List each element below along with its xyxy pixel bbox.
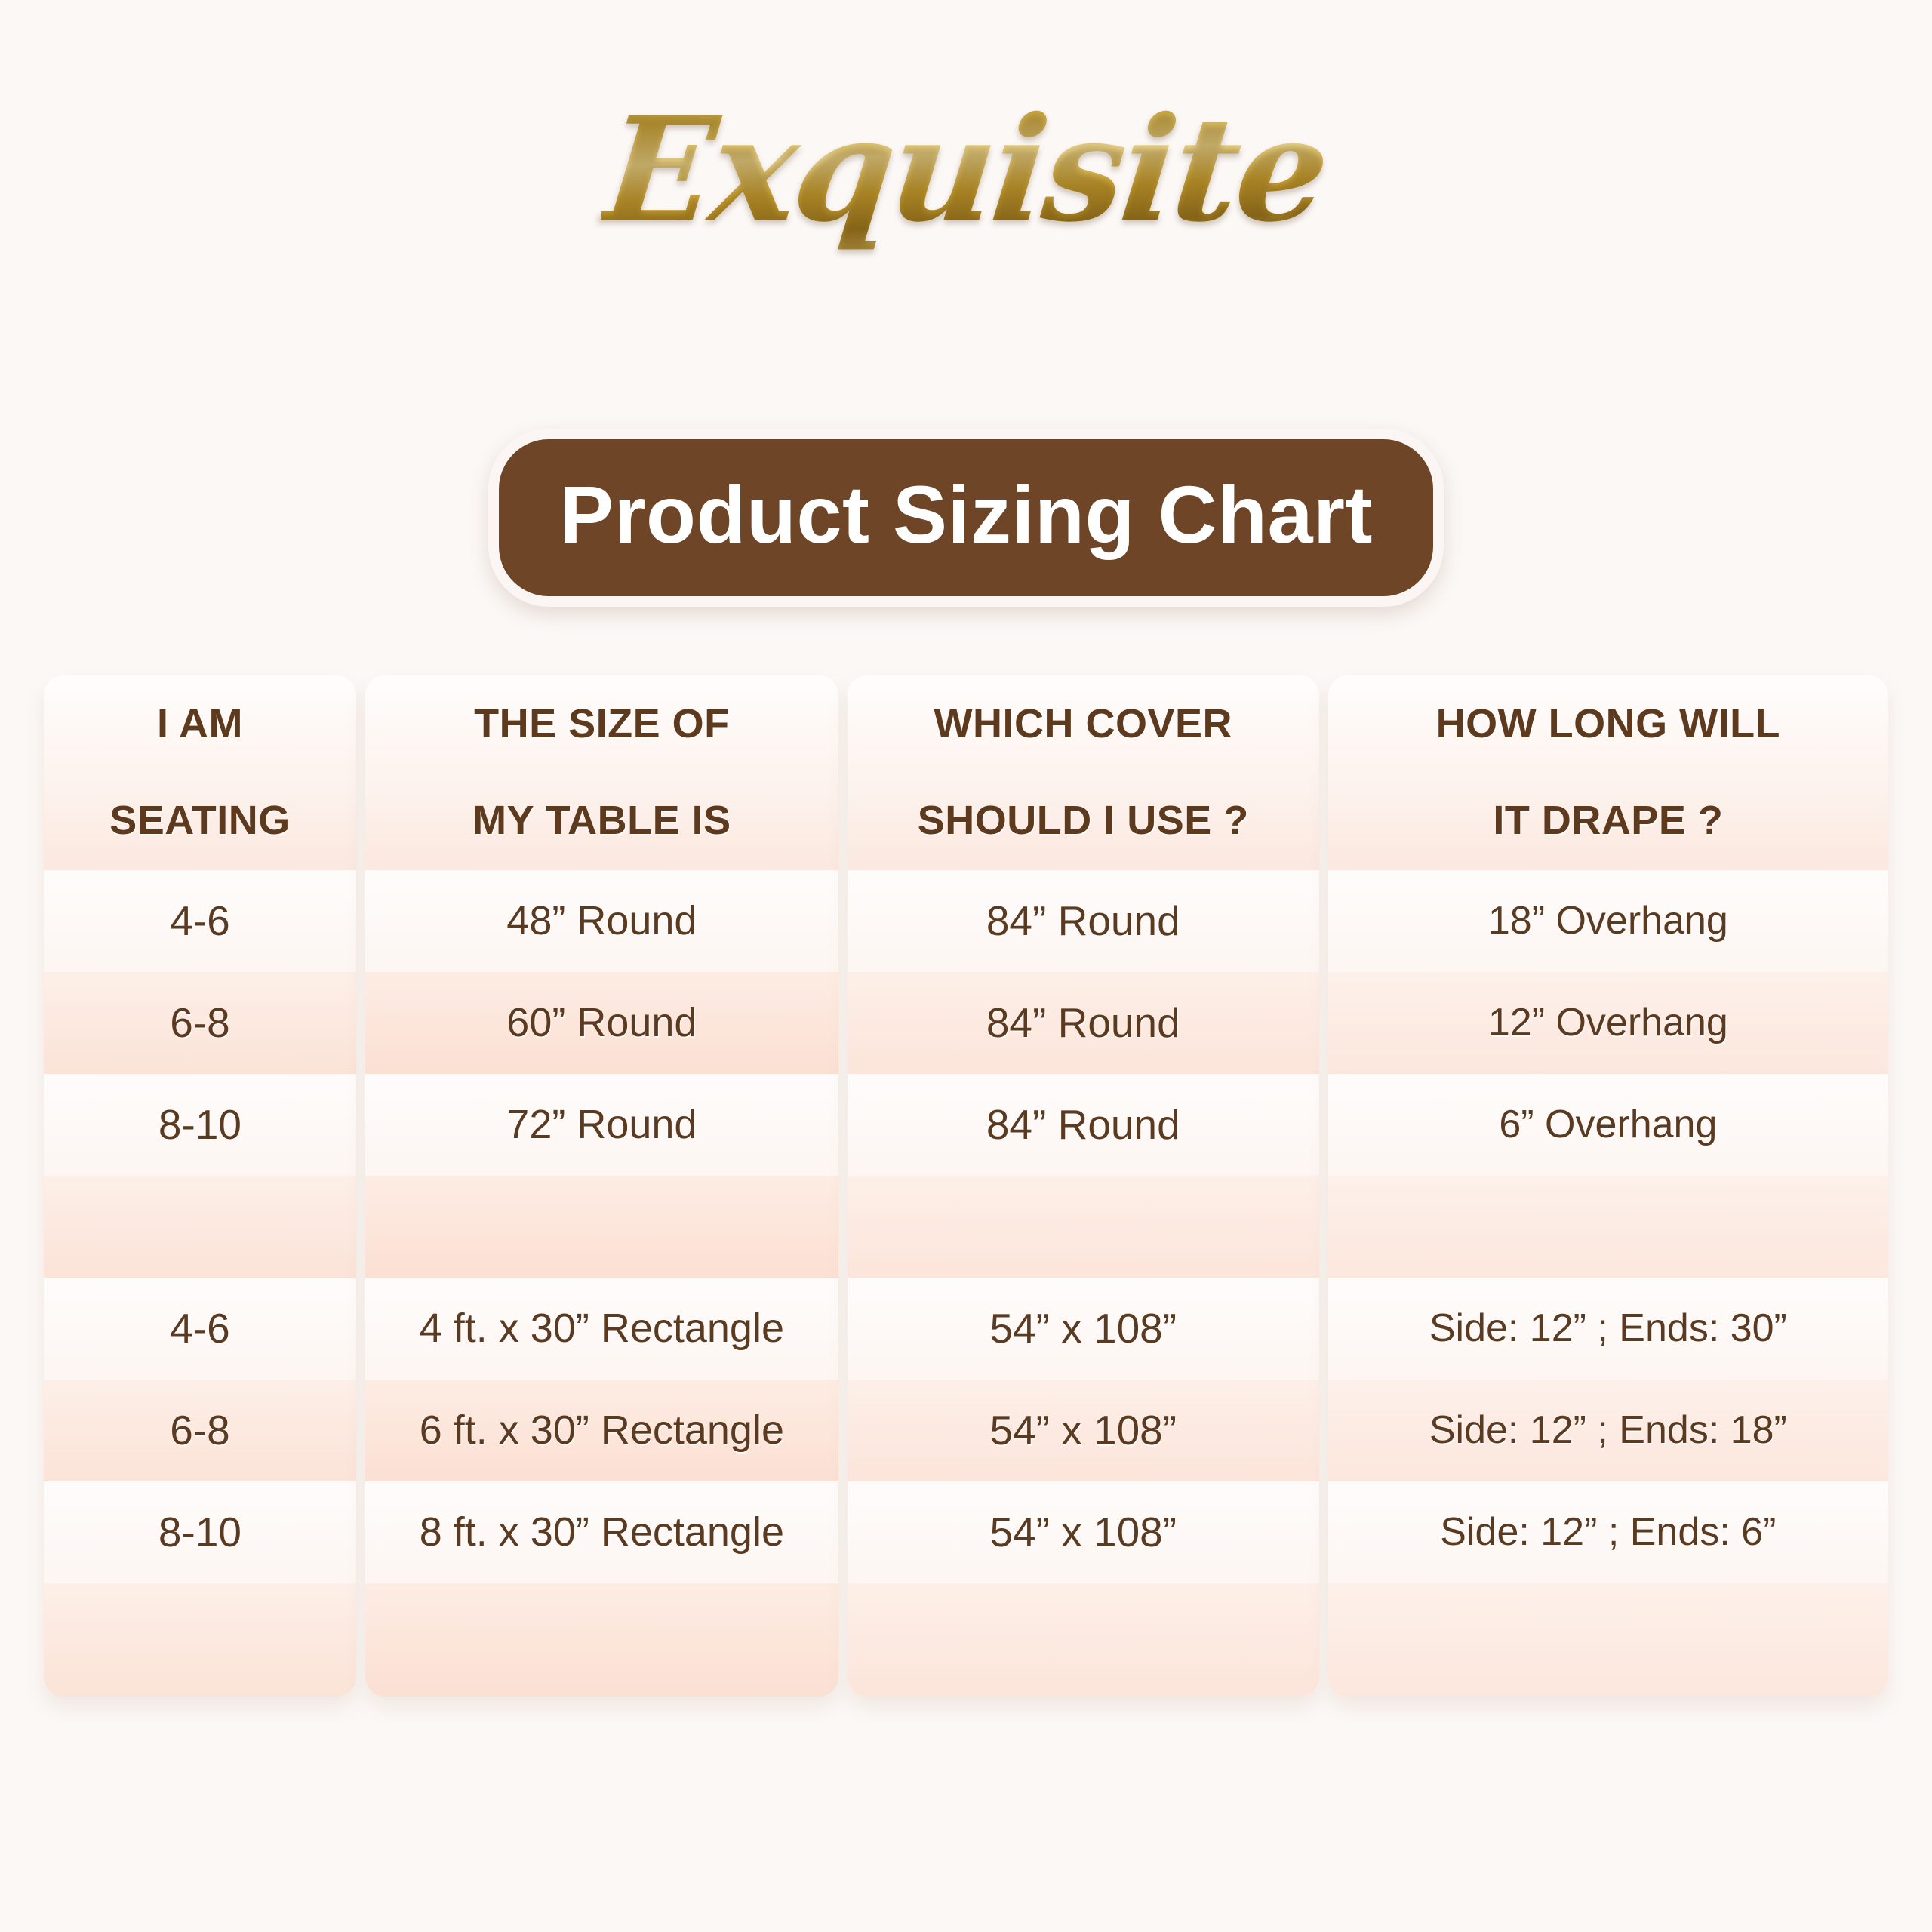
table-row: 72” Round [365,1074,838,1176]
table-row: 4-6 [44,870,356,972]
column-header-drape-length-line2: IT DRAPE ? [1436,797,1780,845]
sizing-chart-page: Exquisite Product Sizing Chart I AM SEAT… [0,0,1932,1932]
table-row: Side: 12” ; Ends: 18” [1328,1380,1888,1481]
table-row: 54” x 108” [848,1481,1319,1583]
table-row-spacer [44,1176,356,1278]
page-title: Product Sizing Chart [488,429,1444,607]
table-row: 4 ft. x 30” Rectangle [365,1278,838,1380]
column-header-cover-size: WHICH COVER SHOULD I USE ? [848,675,1319,870]
cell-value: 6 ft. x 30” Rectangle [420,1408,784,1453]
cell-value: 54” x 108” [989,1407,1177,1454]
cell-value: 8-10 [158,1102,241,1148]
column-header-cover-size-line1: WHICH COVER [918,700,1249,749]
cell-value: 12” Overhang [1488,1001,1728,1044]
cell-value: 8-10 [158,1509,241,1555]
cell-value: 18” Overhang [1488,900,1728,943]
table-row: 54” x 108” [848,1278,1319,1380]
table-row: 84” Round [848,1074,1319,1176]
cell-value: 84” Round [986,1000,1180,1046]
cell-value: Side: 12” ; Ends: 18” [1429,1409,1787,1452]
cell-value: 54” x 108” [989,1509,1177,1555]
cell-value: 4-6 [170,1306,230,1352]
column-header-seating: I AM SEATING [44,675,356,870]
cell-value: Side: 12” ; Ends: 30” [1429,1307,1787,1350]
table-row-spacer [365,1176,838,1278]
column-header-table-size-line1: THE SIZE OF [472,700,731,749]
brand-name: Exquisite [597,83,1334,257]
cell-value: 54” x 108” [989,1306,1177,1352]
cell-value: 60” Round [506,1001,697,1045]
column-header-seating-line2: SEATING [109,797,291,845]
table-row: 48” Round [365,870,838,972]
column-table-size: THE SIZE OF MY TABLE IS 48” Round 60” Ro… [365,675,838,1697]
table-row: 8-10 [44,1074,356,1176]
table-row-tail [44,1583,356,1697]
column-header-drape-length-line1: HOW LONG WILL [1436,700,1780,749]
column-cover-size: WHICH COVER SHOULD I USE ? 84” Round 84”… [848,675,1319,1697]
table-row: 12” Overhang [1328,972,1888,1074]
column-drape-length: HOW LONG WILL IT DRAPE ? 18” Overhang 12… [1328,675,1888,1697]
cell-value: Side: 12” ; Ends: 6” [1440,1511,1776,1554]
table-row: 8 ft. x 30” Rectangle [365,1481,838,1583]
cell-value: 8 ft. x 30” Rectangle [420,1510,784,1555]
cell-value: 72” Round [506,1103,697,1147]
table-row-tail [848,1583,1319,1697]
table-row: 84” Round [848,972,1319,1074]
table-row: 6 ft. x 30” Rectangle [365,1380,838,1481]
table-row-spacer [848,1176,1319,1278]
table-row-spacer [1328,1176,1888,1278]
table-row: 4-6 [44,1278,356,1380]
page-title-banner: Product Sizing Chart [0,429,1932,607]
table-row: 6” Overhang [1328,1074,1888,1176]
cell-value: 4 ft. x 30” Rectangle [420,1306,784,1351]
table-row: 6-8 [44,1380,356,1481]
cell-value: 6-8 [170,1000,230,1046]
cell-value: 84” Round [986,898,1180,944]
cell-value: 84” Round [986,1102,1180,1148]
cell-value: 6” Overhang [1499,1103,1717,1146]
column-header-table-size: THE SIZE OF MY TABLE IS [365,675,838,870]
table-row: 6-8 [44,972,356,1074]
table-row: 60” Round [365,972,838,1074]
brand-logo: Exquisite [0,83,1932,279]
table-row-tail [365,1583,838,1697]
cell-value: 48” Round [506,899,697,943]
table-row: Side: 12” ; Ends: 30” [1328,1278,1888,1380]
cell-value: 4-6 [170,898,230,944]
cell-value: 6-8 [170,1407,230,1454]
column-header-drape-length: HOW LONG WILL IT DRAPE ? [1328,675,1888,870]
table-row-tail [1328,1583,1888,1697]
column-header-table-size-line2: MY TABLE IS [472,797,731,845]
table-row: Side: 12” ; Ends: 6” [1328,1481,1888,1583]
table-row: 8-10 [44,1481,356,1583]
column-header-seating-line1: I AM [109,700,291,749]
column-seating: I AM SEATING 4-6 6-8 8-10 4-6 6-8 8-10 [44,675,356,1697]
table-row: 18” Overhang [1328,870,1888,972]
table-row: 84” Round [848,870,1319,972]
table-row: 54” x 108” [848,1380,1319,1481]
column-header-cover-size-line2: SHOULD I USE ? [918,797,1249,845]
sizing-table: I AM SEATING 4-6 6-8 8-10 4-6 6-8 8-10 T… [44,675,1888,1697]
